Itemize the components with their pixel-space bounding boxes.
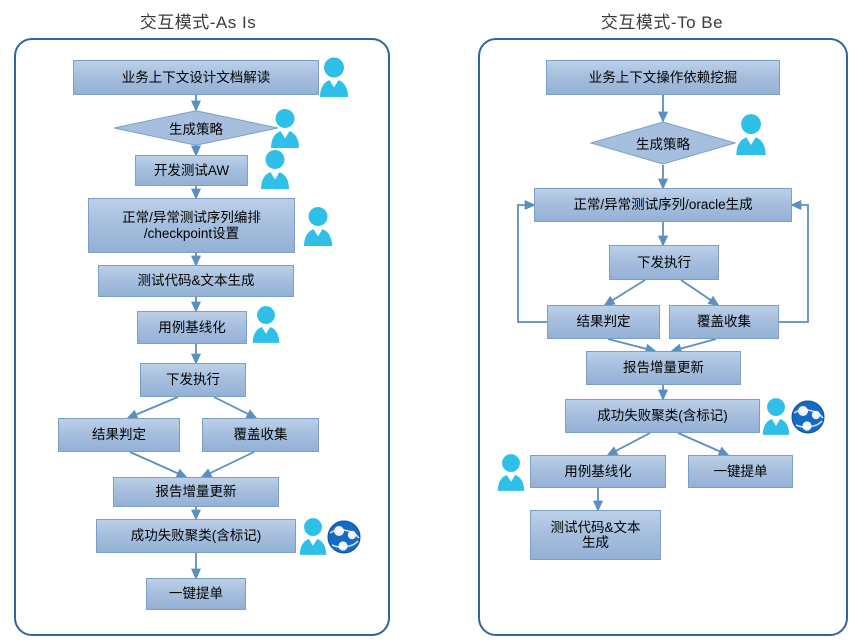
node-l2-label: 生成策略	[113, 110, 279, 146]
person-icon	[250, 304, 282, 344]
person-icon	[258, 148, 292, 190]
node-l11[interactable]: 成功失败聚类(含标记)	[96, 519, 296, 553]
node-r2-label: 生成策略	[590, 121, 736, 165]
node-r3[interactable]: 正常/异常测试序列/oracle生成	[534, 188, 792, 222]
node-r1[interactable]: 业务上下文操作依赖挖掘	[546, 60, 780, 95]
node-r9[interactable]: 用例基线化	[530, 455, 666, 488]
diagram-canvas: 交互模式-As Is 业务上下文设计文档解读 生成策略 开发测试AW 正常/异常…	[0, 0, 865, 644]
node-l3[interactable]: 开发测试AW	[135, 155, 248, 186]
person-icon	[317, 56, 351, 98]
node-r6[interactable]: 覆盖收集	[669, 305, 779, 339]
node-l4[interactable]: 正常/异常测试序列编排 /checkpoint设置	[88, 198, 295, 253]
person-icon	[297, 516, 329, 556]
globe-icon	[326, 519, 362, 555]
node-l7[interactable]: 下发执行	[140, 363, 246, 397]
node-l10[interactable]: 报告增量更新	[113, 477, 279, 507]
node-l1[interactable]: 业务上下文设计文档解读	[73, 60, 319, 95]
node-r10[interactable]: 一键提单	[688, 455, 793, 488]
person-icon	[268, 107, 302, 149]
node-r4[interactable]: 下发执行	[609, 245, 719, 280]
panel-title-as-is: 交互模式-As Is	[8, 8, 388, 33]
node-l8[interactable]: 结果判定	[58, 418, 180, 452]
node-l2-decision[interactable]: 生成策略	[113, 110, 279, 146]
node-r7[interactable]: 报告增量更新	[586, 351, 741, 385]
globe-icon	[790, 399, 826, 435]
node-l12[interactable]: 一键提单	[146, 578, 246, 610]
person-icon	[733, 112, 769, 156]
node-l9[interactable]: 覆盖收集	[202, 418, 319, 452]
panel-title-to-be: 交互模式-To Be	[476, 8, 848, 33]
node-r5[interactable]: 结果判定	[547, 305, 660, 339]
person-icon	[495, 452, 527, 492]
node-r8[interactable]: 成功失败聚类(含标记)	[565, 399, 760, 433]
node-l5[interactable]: 测试代码&文本生成	[98, 265, 294, 297]
node-r2-decision[interactable]: 生成策略	[590, 121, 736, 165]
person-icon	[301, 205, 335, 247]
node-r11[interactable]: 测试代码&文本 生成	[530, 510, 661, 560]
node-l6[interactable]: 用例基线化	[137, 311, 247, 344]
person-icon	[760, 396, 792, 436]
